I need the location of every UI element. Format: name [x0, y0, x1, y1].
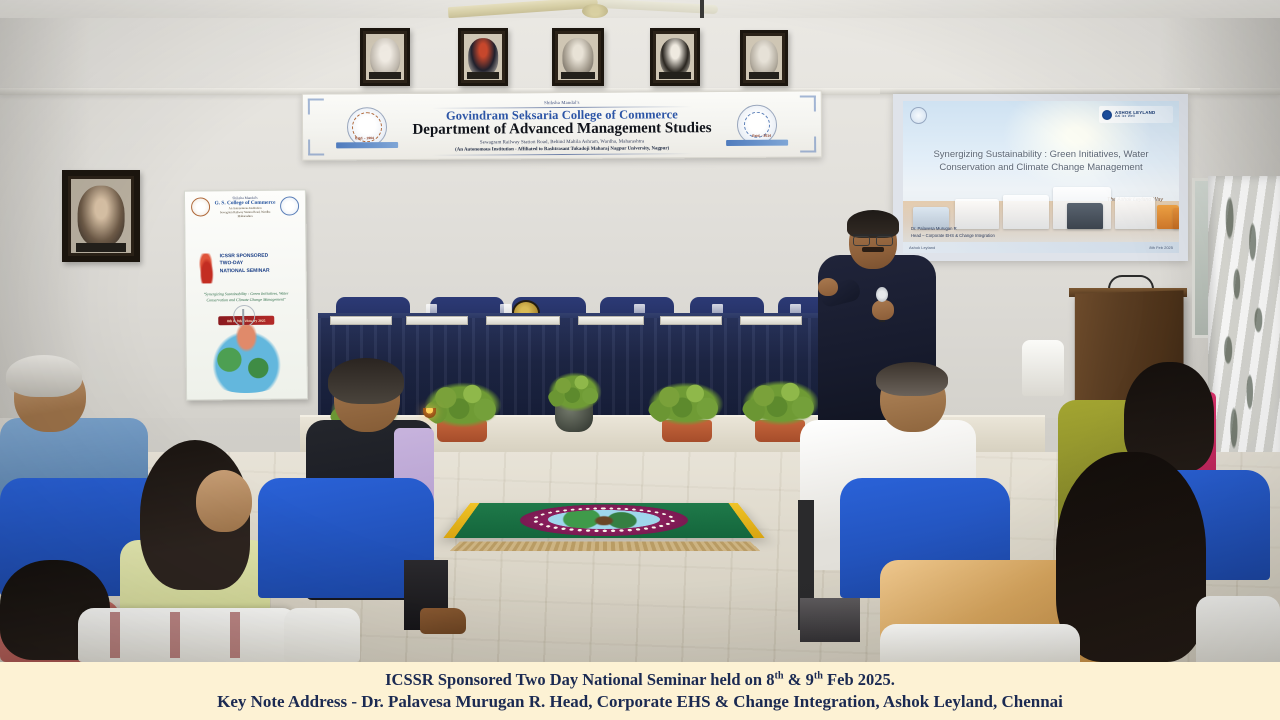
banner-web-tag-right [726, 140, 788, 146]
caption-l1-post: Feb 2025. [823, 670, 895, 689]
audience-hair [328, 358, 404, 404]
standee-seminar-title: ICSSR SPONSORED TWO-DAY NATIONAL SEMINAR [220, 252, 298, 275]
wall-portrait-2 [458, 28, 508, 86]
floor-rangoli [443, 503, 765, 538]
wall-portrait-4 [650, 28, 700, 86]
banner-estd-left: Estd. - 1964 [355, 136, 374, 140]
caption-l1-sup2: th [814, 671, 823, 682]
logo-mark-icon [1102, 110, 1112, 120]
plant-foliage [424, 382, 502, 428]
name-placard [660, 316, 722, 325]
banner-address: Sewagram Railway Station Road, Behind Ma… [399, 139, 725, 146]
ceiling-fan-rod [700, 0, 704, 20]
photo-caption-bar: ICSSR Sponsored Two Day National Seminar… [0, 662, 1280, 720]
banner-estd-right: Estd. - 2014 [752, 134, 771, 138]
slide-vehicle-row [907, 181, 1175, 229]
audience-trousers [800, 598, 860, 642]
ashok-leyland-logo: ASHOK LEYLAND Aal Izz Well [1099, 106, 1173, 123]
caption-l1-pre: ICSSR Sponsored Two Day National Seminar… [385, 670, 774, 689]
name-placard [486, 316, 560, 325]
slide-footer-right: 8th Feb 2025 [1149, 245, 1173, 250]
slide-vehicle-orange [1173, 208, 1179, 229]
plastic-chair [1022, 340, 1064, 396]
rangoli-fringe-mat [450, 541, 761, 550]
banner-corner-icon [308, 139, 324, 155]
caption-line-2: Key Note Address - Dr. Palavesa Murugan … [217, 692, 1063, 712]
banner-corner-icon [800, 95, 816, 111]
name-placard [330, 316, 392, 325]
plant-foliage [548, 372, 602, 412]
chair-slot [230, 612, 240, 658]
banner-corner-icon [800, 136, 816, 152]
name-placard [578, 316, 644, 325]
plant-foliage [742, 380, 820, 426]
rangoli-tree-motif [591, 514, 618, 525]
slide-emblem-icon [910, 107, 927, 124]
chair-slot [170, 612, 180, 658]
standee-theme: "Synergizing Sustainability : Green Init… [198, 290, 294, 303]
audience-head [196, 470, 252, 532]
eyeglasses-icon [853, 234, 893, 242]
chair-slot [110, 612, 120, 658]
slide-presenter-role: Head – Corporate EHS & Change Integratio… [911, 233, 995, 239]
seminar-standee-banner: Shiksha Mandal's G. S. College of Commer… [184, 189, 308, 400]
standee-tree-icon [233, 325, 259, 355]
banner-department-name: Department of Advanced Management Studie… [399, 120, 725, 138]
white-plastic-chair [1196, 596, 1280, 662]
caption-line-1: ICSSR Sponsored Two Day National Seminar… [385, 670, 895, 690]
standee-seminar-line3: NATIONAL SEMINAR [220, 267, 298, 275]
name-placard [406, 316, 468, 325]
speaker-left-hand [818, 278, 838, 296]
slide-presenter-block: Dr. Palavesa Murugan R Head – Corporate … [911, 226, 995, 239]
name-placard [740, 316, 802, 325]
caption-l1-sup1: th [774, 671, 783, 682]
wall-portrait-left [62, 170, 140, 262]
podium-microphone [1108, 275, 1154, 289]
white-plastic-chair [284, 608, 360, 662]
slide-footer: Ashok Leyland 8th Feb 2025 [903, 242, 1179, 253]
audience-long-hair [1056, 452, 1206, 662]
wall-portrait-1 [360, 28, 410, 86]
caption-l1-mid: & 9 [784, 670, 814, 689]
seminar-photograph: ASHOK LEYLAND Aal Izz Well Synergizing S… [0, 0, 1280, 720]
brand-tagline: Aal Izz Well [1115, 115, 1155, 119]
white-plastic-chair [880, 624, 1080, 662]
banner-affiliation: (An Autonomous Institution - Affiliated … [399, 146, 725, 153]
slide-footer-left: Ashok Leyland [909, 245, 935, 250]
wall-portrait-3 [552, 28, 604, 86]
standee-emblem-right-icon [280, 196, 299, 215]
wall-portrait-5 [740, 30, 788, 86]
standee-flame-icon [198, 253, 216, 283]
slide-vehicle [1115, 197, 1155, 229]
audience-shoe [420, 608, 466, 634]
banner-corner-icon [308, 98, 324, 114]
hall-scene: ASHOK LEYLAND Aal Izz Well Synergizing S… [0, 0, 1280, 662]
presentation-slide: ASHOK LEYLAND Aal Izz Well Synergizing S… [903, 101, 1179, 253]
projector-screen: ASHOK LEYLAND Aal Izz Well Synergizing S… [893, 94, 1188, 261]
audience-hair [876, 362, 948, 396]
slide-vehicle [1003, 195, 1049, 229]
banner-divider-bottom [432, 153, 693, 156]
event-backdrop-banner: Estd. - 1964 Estd. - 2014 Shiksha Mandal… [302, 90, 822, 160]
microphone-head [876, 287, 888, 302]
audience-grey-hair [6, 355, 82, 397]
standee-emblem-left-icon [191, 197, 210, 216]
slide-vehicle [955, 199, 999, 229]
plant-foliage [648, 382, 724, 426]
slide-title: Synergizing Sustainability : Green Initi… [911, 149, 1171, 174]
banner-trust-name: Shiksha Mandal's [399, 99, 725, 106]
speaker-moustache [862, 247, 884, 252]
slide-vehicle-cab [1067, 203, 1103, 229]
banner-text-block: Shiksha Mandal's Govindram Seksaria Coll… [399, 99, 725, 156]
banner-web-tag-left [336, 142, 398, 148]
ceiling-fan-hub [582, 4, 608, 18]
speaker-right-hand [872, 300, 894, 320]
patterned-curtain [1208, 176, 1280, 476]
